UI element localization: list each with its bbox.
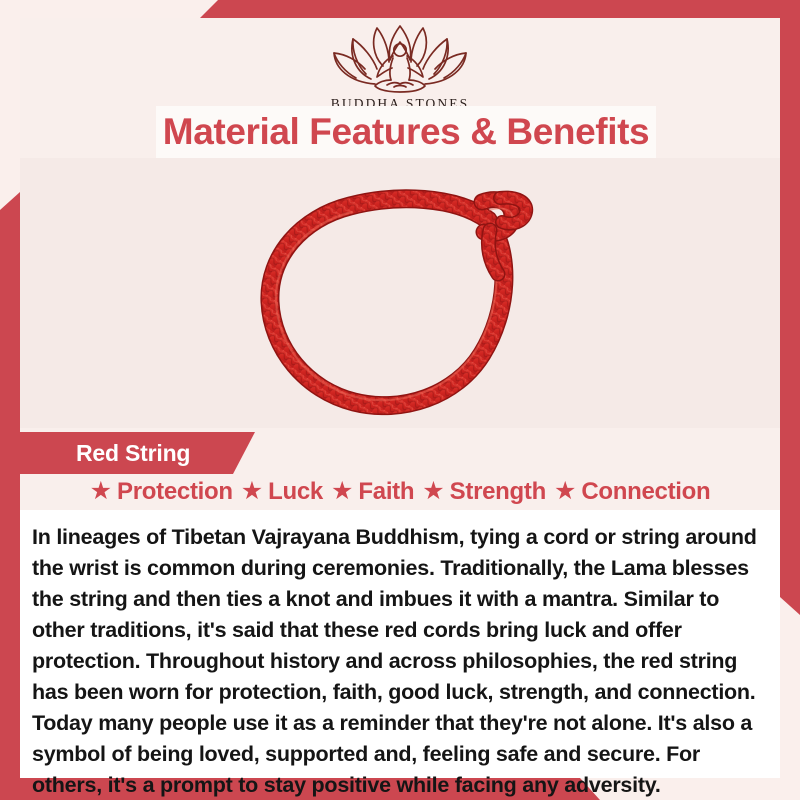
feature-item-luck: ★ Luck: [241, 478, 323, 506]
lotus-meditation-figure-icon: [315, 22, 485, 94]
feature-item-protection: ★ Protection: [90, 478, 233, 506]
star-icon: ★: [241, 479, 263, 504]
star-icon: ★: [554, 479, 576, 504]
star-icon: ★: [422, 479, 444, 504]
title-band: Material Features & Benefits: [156, 106, 656, 158]
description-text: In lineages of Tibetan Vajrayana Buddhis…: [32, 522, 768, 800]
feature-label: Connection: [581, 478, 710, 506]
feature-item-faith: ★ Faith: [331, 478, 414, 506]
hero-image-area: [20, 158, 780, 428]
brand-logo: BUDDHA STONES: [20, 22, 780, 112]
feature-label: Strength: [450, 478, 546, 506]
feature-label: Faith: [358, 478, 414, 506]
decorative-right-red-band: [780, 0, 800, 615]
infographic-poster: BUDDHA STONES Material Features & Benefi…: [0, 0, 800, 800]
content-panel: BUDDHA STONES Material Features & Benefi…: [20, 18, 780, 778]
feature-item-strength: ★ Strength: [422, 478, 546, 506]
feature-list: ★ Protection ★ Luck ★ Faith ★ Strength ★…: [20, 474, 780, 510]
section-banner-label: Red String: [20, 440, 190, 467]
decorative-top-red-band: [200, 0, 800, 18]
star-icon: ★: [90, 479, 112, 504]
page-title: Material Features & Benefits: [163, 111, 649, 153]
red-braided-string-bracelet: [250, 162, 550, 424]
description-card: In lineages of Tibetan Vajrayana Buddhis…: [20, 510, 780, 778]
decorative-left-red-band: [0, 192, 20, 800]
section-banner: Red String: [20, 432, 255, 474]
feature-label: Protection: [117, 478, 233, 506]
feature-label: Luck: [268, 478, 323, 506]
feature-item-connection: ★ Connection: [554, 478, 710, 506]
star-icon: ★: [331, 479, 353, 504]
